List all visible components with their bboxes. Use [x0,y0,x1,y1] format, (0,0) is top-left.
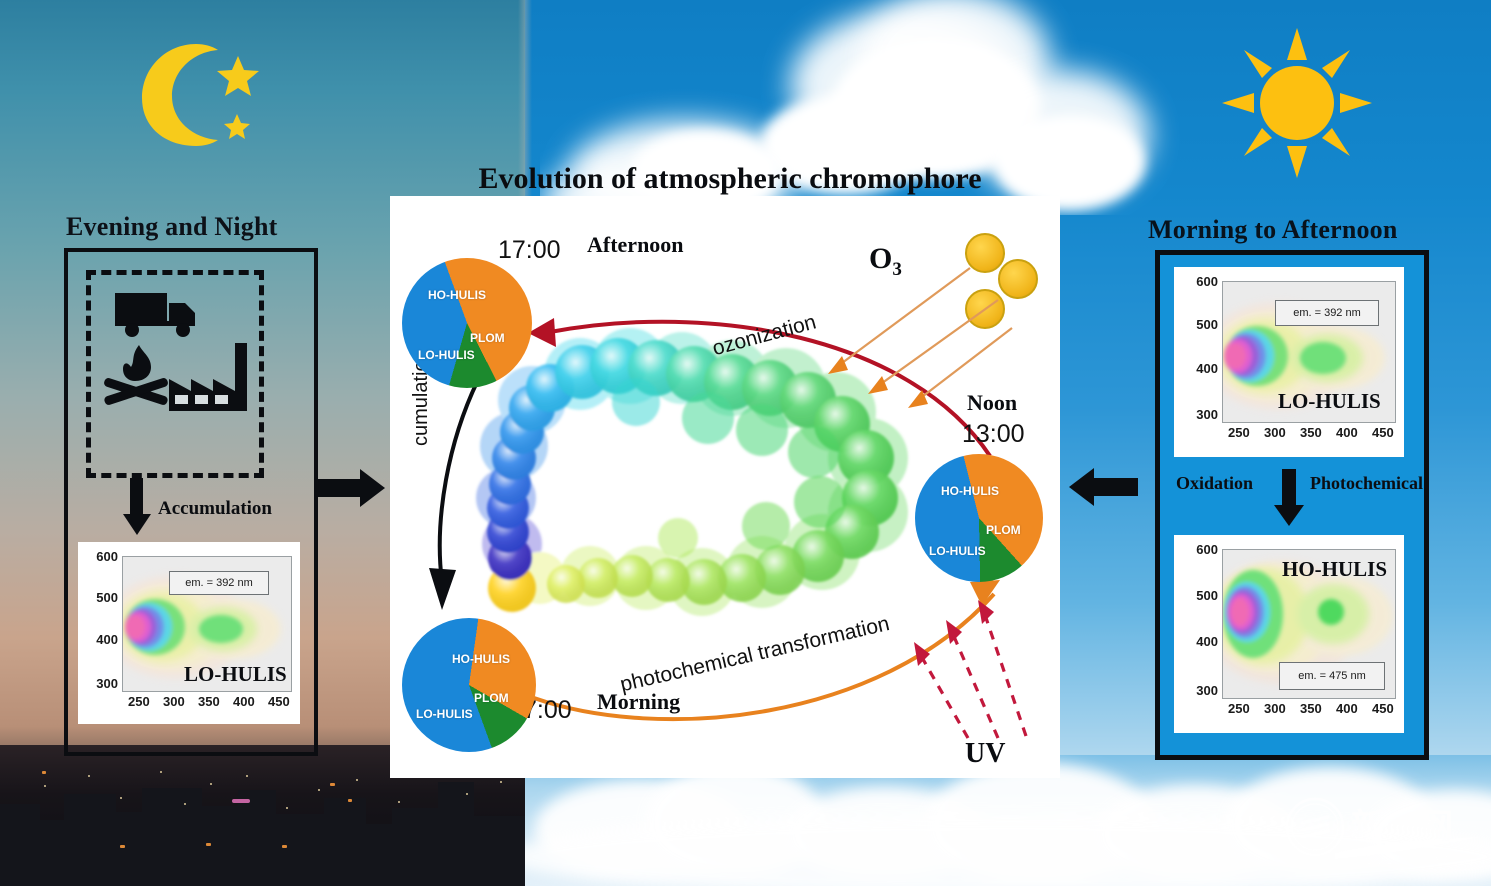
left-eem-ytick-400: 400 [84,632,118,647]
left-eem-ytick-600: 600 [84,549,118,564]
pie-afternoon-17-label-lo: LO-HULIS [418,348,475,362]
right-eem-top-xtick-250: 250 [1228,425,1250,440]
right-eem-bottom-xtick-400: 400 [1336,701,1358,716]
uv-arrows [880,596,1050,746]
right-eem-top-xtick-300: 300 [1264,425,1286,440]
right-eem-bottom-xtick-350: 350 [1300,701,1322,716]
pie-morning-7-label-plom: PLOM [474,691,509,705]
afternoon-time: 17:00 [498,236,561,265]
right-eem-bottom-plot: em. = 475 nm HO-HULIS 600 500 400 300 25… [1174,535,1404,733]
ozone-emission-arrows [820,258,1020,408]
center-diagram-panel: cumulation Afternoon 17:00 Noon 13:00 Mo… [390,196,1060,778]
watermark-cjk: 新闻网 [1351,799,1453,848]
right-eem-top-ytick-500: 500 [1182,317,1218,332]
left-to-center-arrow-icon [316,467,386,514]
right-eem-top-ytick-600: 600 [1182,274,1218,289]
left-panel-title: Evening and Night [66,212,277,242]
pie-noon-13-label-lo: LO-HULIS [929,544,986,558]
left-eem-ytick-300: 300 [84,676,118,691]
right-eem-bottom-ytick-400: 400 [1182,634,1218,649]
oxidation-label: Oxidation [1176,473,1253,494]
accumulation-label: Accumulation [158,498,272,520]
left-eem-annotation: em. = 392 nm [169,571,269,595]
right-eem-top-name: LO-HULIS [1278,389,1381,414]
accumulation-arrow-icon [120,478,154,541]
right-eem-top-ytick-400: 400 [1182,361,1218,376]
oxidation-arrow-icon [1272,469,1306,532]
pie-morning-7-label-ho: HO-HULIS [452,652,510,666]
left-eem-name: LO-HULIS [184,662,287,687]
right-panel-title: Morning to Afternoon [1148,215,1398,245]
right-eem-bottom-xtick-450: 450 [1372,701,1394,716]
right-eem-top-xtick-400: 400 [1336,425,1358,440]
right-eem-top-ytick-300: 300 [1182,407,1218,422]
pie-noon-13 [915,454,1043,582]
main-title: Evolution of atmospheric chromophore [440,162,1020,196]
right-eem-top-xtick-350: 350 [1300,425,1322,440]
left-panel-frame: Accumulation [64,248,318,756]
campfire-icon [101,343,173,420]
pie-morning-7 [402,618,536,752]
right-panel-frame: em. = 392 nm LO-HULIS 600 500 400 300 25… [1155,250,1429,760]
left-eem-xtick-250: 250 [128,694,150,709]
right-eem-bottom-ytick-600: 600 [1182,542,1218,557]
watermark: 新闻网 SUST NEWS NET [1283,795,1483,875]
right-eem-top-xtick-450: 450 [1372,425,1394,440]
truck-icon [115,289,207,344]
right-eem-bottom-ytick-300: 300 [1182,683,1218,698]
noon-time: 13:00 [962,420,1025,449]
photochemical-label: Photochemical [1310,473,1423,494]
pie-afternoon-17-label-ho: HO-HULIS [428,288,486,302]
right-to-center-arrow-icon [1068,466,1138,513]
left-eem-xtick-350: 350 [198,694,220,709]
right-eem-bottom-ytick-500: 500 [1182,588,1218,603]
emission-sources-dashed-box [86,270,264,478]
right-eem-bottom-name: HO-HULIS [1282,557,1387,582]
right-eem-top-plot: em. = 392 nm LO-HULIS 600 500 400 300 25… [1174,267,1404,457]
right-eem-bottom-annotation: em. = 475 nm [1279,662,1385,690]
left-eem-xtick-450: 450 [268,694,290,709]
left-eem-ytick-500: 500 [84,590,118,605]
moon-and-stars-icon [118,38,268,148]
pie-afternoon-17 [402,258,532,388]
left-eem-plot: em. = 392 nm LO-HULIS 600 500 400 300 25… [78,542,300,724]
sun-icon [1222,28,1372,178]
watermark-latin: SUST NEWS NET [1365,853,1489,867]
graphical-abstract: Evening and Night [0,0,1491,886]
pie-afternoon-17-label-plom: PLOM [470,331,505,345]
left-eem-xtick-300: 300 [163,694,185,709]
right-eem-top-annotation: em. = 392 nm [1275,300,1379,326]
pie-noon-13-label-plom: PLOM [986,523,1021,537]
right-eem-bottom-xtick-250: 250 [1228,701,1250,716]
afternoon-label: Afternoon [587,232,684,258]
right-eem-bottom-xtick-300: 300 [1264,701,1286,716]
pie-morning-7-label-lo: LO-HULIS [416,707,473,721]
factory-icon [169,337,247,418]
pie-noon-13-label-ho: HO-HULIS [941,484,999,498]
left-eem-xtick-400: 400 [233,694,255,709]
